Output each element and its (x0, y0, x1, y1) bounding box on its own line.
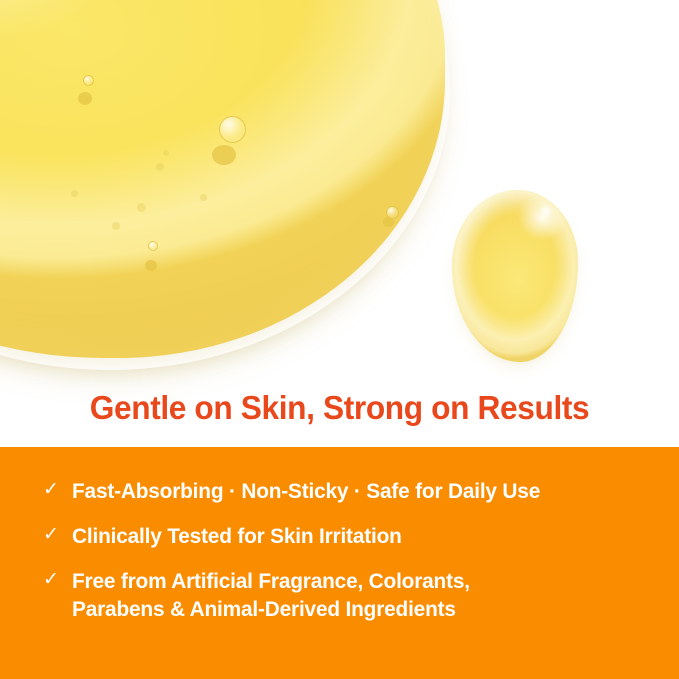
list-item: ✓ Clinically Tested for Skin Irritation (40, 522, 660, 550)
benefits-list: ✓ Fast-Absorbing · Non-Sticky · Safe for… (40, 477, 660, 623)
check-icon: ✓ (40, 522, 72, 548)
list-item-line: Parabens & Animal-Derived Ingredients (72, 595, 642, 623)
list-item-label: Clinically Tested for Skin Irritation (72, 522, 642, 550)
hero-image (0, 0, 679, 447)
benefits-banner: ✓ Fast-Absorbing · Non-Sticky · Safe for… (0, 447, 679, 679)
check-icon: ✓ (40, 477, 72, 503)
list-item-line: Fast-Absorbing · Non-Sticky · Safe for D… (72, 477, 642, 505)
product-feature-card: Gentle on Skin, Strong on Results ✓ Fast… (0, 0, 679, 679)
large-oil-droplet (0, 0, 445, 358)
list-item-label: Fast-Absorbing · Non-Sticky · Safe for D… (72, 477, 642, 505)
list-item-line: Clinically Tested for Skin Irritation (72, 522, 642, 550)
list-item-line: Free from Artificial Fragrance, Colorant… (72, 567, 642, 595)
small-oil-droplet (452, 190, 578, 362)
check-icon: ✓ (40, 567, 72, 593)
list-item: ✓ Fast-Absorbing · Non-Sticky · Safe for… (40, 477, 660, 505)
list-item: ✓ Free from Artificial Fragrance, Colora… (40, 567, 660, 623)
list-item-label: Free from Artificial Fragrance, Colorant… (72, 567, 642, 623)
page-title: Gentle on Skin, Strong on Results (14, 388, 666, 428)
